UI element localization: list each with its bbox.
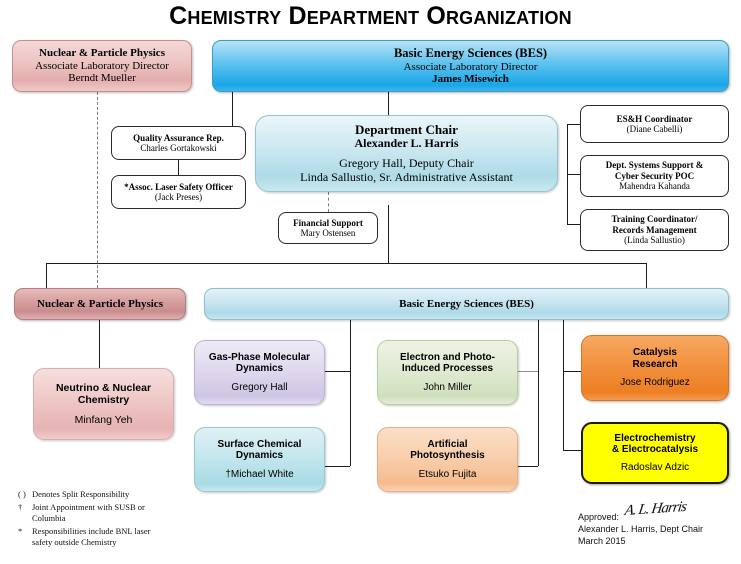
legend-marker-dagger: † [18,502,32,524]
approval-signature-line: Approved: A. L. Harris [578,503,703,523]
artificial-line2: Photosynthesis [410,450,484,462]
syssupport-title1: Dept. Systems Support & [606,160,704,170]
bes-top-name: James Misewich [432,73,509,86]
surface-line2: Dynamics [236,450,283,462]
connector-tier2-npp-drop [46,263,47,288]
surface-line1: Surface Chemical [218,439,302,451]
box-training-coordinator[interactable]: Training Coordinator/ Records Management… [580,209,729,251]
neutrino-line2: Chemistry [78,394,129,406]
financial-name: Mary Ostensen [301,228,356,238]
connector-bes-to-tier2 [388,205,389,263]
syssupport-name: Mahendra Kahanda [619,181,690,191]
connector-qa-to-laser [178,160,179,175]
box-group-electrochemistry-electrocatalysis[interactable]: Electrochemistry & Electrocatalysis Rado… [581,422,729,484]
connector-bes2-surface [325,466,350,467]
artificial-line1: Artificial [427,439,467,451]
npp-top-title: Nuclear & Particle Physics [39,47,165,60]
org-chart: Chemistry Department Organization Nuclea… [0,0,741,564]
gasphase-lead: Gregory Hall [231,382,287,394]
box-group-surface-chemical-dynamics[interactable]: Surface Chemical Dynamics †Michael White [194,427,325,492]
connector-chair-to-financial [328,192,329,212]
catalysis-line1: Catalysis [633,347,677,359]
chair-name: Alexander L. Harris [354,137,458,151]
connector-bes2-artificial [518,466,538,467]
catalysis-lead: Jose Rodriguez [620,377,689,389]
connector-npp-to-neutrino [99,320,100,368]
connector-bes2-electrochem [563,450,581,451]
laser-title: *Assoc. Laser Safety Officer [124,182,233,192]
chair-assistant: Linda Sallustio, Sr. Administrative Assi… [300,171,513,185]
qa-name: Charles Gortakowski [140,143,216,153]
training-title1: Training Coordinator/ [611,214,697,224]
legend-text-joint: Joint Appointment with SUSB or Columbia [32,502,168,524]
chair-title: Department Chair [355,122,458,137]
connector-bes2-catalysis [563,371,581,372]
connector-bes2-drop-c [563,320,564,450]
electron-line2: Induced Processes [402,363,493,375]
artificial-lead: Etsuko Fujita [419,469,477,481]
box-quality-assurance-rep[interactable]: Quality Assurance Rep. Charles Gortakows… [111,126,246,160]
connector-to-syssupport [567,174,580,175]
page-title: Chemistry Department Organization [0,2,741,31]
connector-bes2-electron [518,371,538,372]
box-dept-systems-support[interactable]: Dept. Systems Support & Cyber Security P… [580,155,729,197]
legend-item: * Responsibilities include BNL laser saf… [18,526,168,548]
gasphase-line1: Gas-Phase Molecular [209,352,310,364]
neutrino-line1: Neutrino & Nuclear [56,382,151,394]
electrochem-line1: Electrochemistry [614,433,695,445]
npp-top-role: Associate Laboratory Director [35,60,169,73]
npp-top-name: Berndt Mueller [68,72,136,85]
bes-top-title: Basic Energy Sciences (BES) [394,46,547,61]
surface-lead: †Michael White [225,469,293,481]
legend-text-split: Denotes Split Responsibility [32,489,168,500]
catalysis-line2: Research [632,359,677,371]
neutrino-lead: Minfang Yeh [75,414,133,426]
chair-deputy: Gregory Hall, Deputy Chair [339,157,474,171]
box-basic-energy-sciences-top[interactable]: Basic Energy Sciences (BES) Associate La… [212,40,729,92]
approved-label: Approved: [578,511,619,523]
laser-name: (Jack Preses) [155,192,202,202]
legend-marker-asterisk: * [18,526,32,548]
bes-bar-label: Basic Energy Sciences (BES) [399,298,534,311]
syssupport-title2: Cyber Security POC [615,171,694,181]
connector-bes2-drop-b [538,320,539,466]
esh-title: ES&H Coordinator [617,114,693,124]
approval-name: Alexander L. Harris, Dept Chair [578,523,703,535]
electrochem-line2: & Electrocatalysis [612,444,698,456]
box-group-electron-photo-induced-processes[interactable]: Electron and Photo- Induced Processes Jo… [377,340,518,405]
box-group-neutrino-nuclear-chemistry[interactable]: Neutrino & Nuclear Chemistry Minfang Yeh [33,368,174,440]
connector-bes-to-chair [388,88,389,115]
legend-marker-parens: ( ) [18,489,32,500]
training-title2: Records Management [612,225,696,235]
box-financial-support[interactable]: Financial Support Mary Ostensen [278,212,378,244]
electron-line1: Electron and Photo- [400,352,495,364]
legend: ( ) Denotes Split Responsibility † Joint… [18,489,168,548]
legend-text-laser: Responsibilities include BNL laser safet… [32,526,168,548]
bes-top-role: Associate Laboratory Director [404,61,538,74]
electron-lead: John Miller [423,382,471,394]
signature-mark: A. L. Harris [623,497,687,521]
npp-bar-label: Nuclear & Particle Physics [37,298,163,311]
box-assoc-laser-safety-officer[interactable]: *Assoc. Laser Safety Officer (Jack Prese… [111,175,246,209]
connector-bes2-gasphase [325,371,350,372]
approval-date: March 2015 [578,535,703,547]
qa-title: Quality Assurance Rep. [133,133,224,143]
box-group-artificial-photosynthesis[interactable]: Artificial Photosynthesis Etsuko Fujita [377,427,518,492]
electrochem-lead: Radoslav Adzic [621,462,689,474]
connector-tier2-bes-drop [646,263,647,288]
box-department-chair[interactable]: Department Chair Alexander L. Harris Gre… [255,115,558,192]
esh-name: (Diane Cabelli) [627,124,683,134]
approval-block: Approved: A. L. Harris Alexander L. Harr… [578,503,703,548]
legend-item: † Joint Appointment with SUSB or Columbi… [18,502,168,524]
connector-npp-dashed [97,92,98,288]
connector-bes-to-qa [232,88,233,126]
box-group-catalysis-research[interactable]: Catalysis Research Jose Rodriguez [581,335,729,401]
connector-to-training [567,224,580,225]
financial-title: Financial Support [293,218,363,228]
box-group-gas-phase-molecular-dynamics[interactable]: Gas-Phase Molecular Dynamics Gregory Hal… [194,340,325,405]
connector-tier2-bus [46,263,646,264]
gasphase-line2: Dynamics [236,363,283,375]
box-esh-coordinator[interactable]: ES&H Coordinator (Diane Cabelli) [580,105,729,143]
bar-nuclear-particle-physics[interactable]: Nuclear & Particle Physics [14,288,186,320]
connector-to-esh [567,124,580,125]
box-nuclear-particle-physics-top[interactable]: Nuclear & Particle Physics Associate Lab… [12,40,192,92]
training-name: (Linda Sallustio) [624,235,685,245]
bar-basic-energy-sciences[interactable]: Basic Energy Sciences (BES) [204,288,729,320]
legend-item: ( ) Denotes Split Responsibility [18,489,168,500]
connector-bes2-drop-a [350,320,351,466]
